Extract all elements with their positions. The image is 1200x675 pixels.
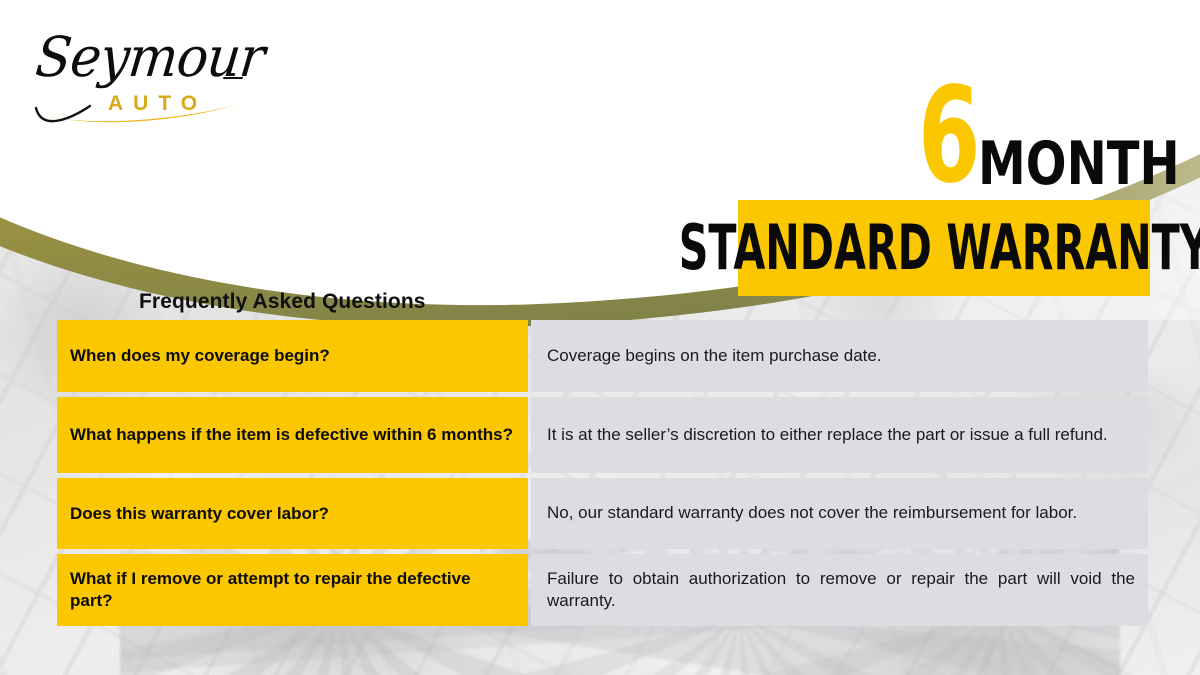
faq-question: When does my coverage begin? bbox=[57, 320, 528, 392]
faq-answer: It is at the seller’s discretion to eith… bbox=[531, 397, 1148, 473]
standard-warranty-banner: STANDARD WARRANTY bbox=[738, 200, 1150, 296]
duration-headline: 6 MONTH bbox=[918, 78, 1200, 190]
faq-answer-text: No, our standard warranty does not cover… bbox=[547, 502, 1135, 524]
faq-answer-text: It is at the seller’s discretion to eith… bbox=[547, 424, 1135, 446]
faq-answer: Failure to obtain authorization to remov… bbox=[531, 554, 1148, 626]
seymour-auto-logo[interactable]: Seymour AUTO bbox=[22, 20, 252, 138]
duration-unit: MONTH bbox=[978, 139, 1180, 190]
faq-heading: Frequently Asked Questions bbox=[139, 290, 426, 314]
standard-warranty-label: STANDARD WARRANTY bbox=[679, 217, 1200, 279]
faq-question: Does this warranty cover labor? bbox=[57, 478, 528, 549]
faq-question: What if I remove or attempt to repair th… bbox=[57, 554, 528, 626]
warranty-slide: Seymour AUTO 6 MONTH STANDARD WARRANTY F… bbox=[0, 0, 1200, 675]
duration-number: 6 bbox=[918, 82, 979, 190]
table-row: Does this warranty cover labor? No, our … bbox=[57, 478, 1148, 549]
faq-answer: No, our standard warranty does not cover… bbox=[531, 478, 1148, 549]
faq-answer-text: Failure to obtain authorization to remov… bbox=[547, 568, 1135, 612]
table-row: What happens if the item is defective wi… bbox=[57, 397, 1148, 473]
faq-answer-text: Coverage begins on the item purchase dat… bbox=[547, 345, 1135, 367]
table-row: When does my coverage begin? Coverage be… bbox=[57, 320, 1148, 392]
logo-swoosh-icon bbox=[28, 46, 254, 136]
table-row: What if I remove or attempt to repair th… bbox=[57, 554, 1148, 626]
faq-question: What happens if the item is defective wi… bbox=[57, 397, 528, 473]
faq-answer: Coverage begins on the item purchase dat… bbox=[531, 320, 1148, 392]
faq-table: When does my coverage begin? Coverage be… bbox=[57, 320, 1148, 626]
